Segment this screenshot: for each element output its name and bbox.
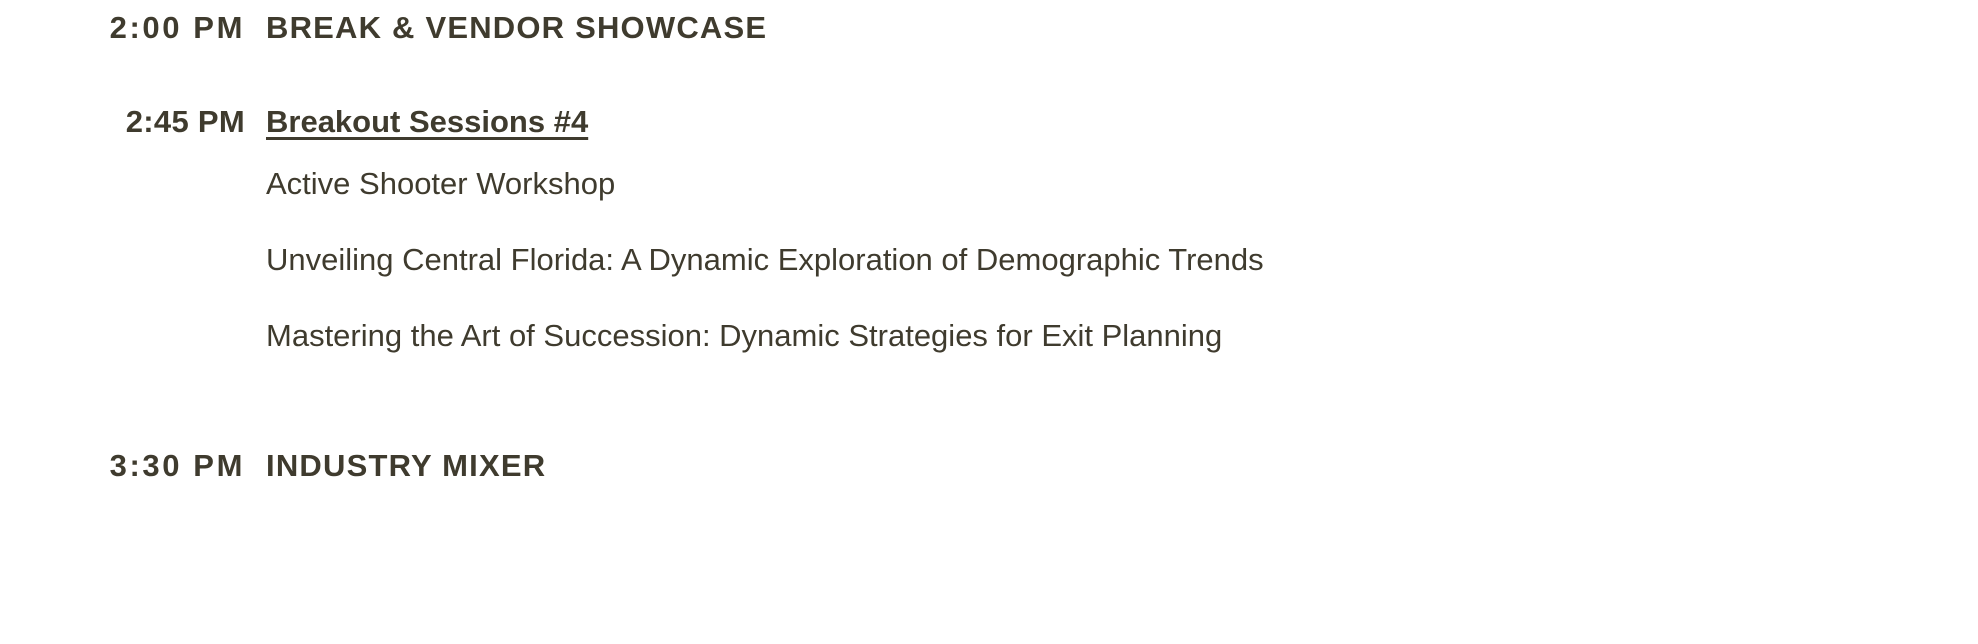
agenda-title-0: BREAK & VENDOR SHOWCASE — [266, 12, 767, 43]
agenda-row-break-vendor-showcase: 2:00 PM BREAK & VENDOR SHOWCASE — [0, 12, 767, 43]
session-item-mastering-art-of-succession: Mastering the Art of Succession: Dynamic… — [266, 314, 1264, 358]
agenda-time-0: 2:00 PM — [0, 12, 245, 43]
agenda-content-0: BREAK & VENDOR SHOWCASE — [266, 12, 767, 43]
session-item-unveiling-central-florida: Unveiling Central Florida: A Dynamic Exp… — [266, 238, 1264, 282]
agenda-time-2: 3:30 PM — [0, 450, 245, 481]
agenda-row-industry-mixer: 3:30 PM INDUSTRY MIXER — [0, 450, 546, 481]
agenda-time-1: 2:45 PM — [0, 106, 245, 137]
agenda-row-breakout-sessions-4: 2:45 PM Breakout Sessions #4 Active Shoo… — [0, 106, 1264, 358]
session-item-active-shooter-workshop: Active Shooter Workshop — [266, 162, 1264, 206]
agenda-schedule: 2:00 PM BREAK & VENDOR SHOWCASE 2:45 PM … — [0, 0, 1978, 644]
agenda-content-1: Breakout Sessions #4 Active Shooter Work… — [266, 106, 1264, 358]
breakout-sessions-4-link[interactable]: Breakout Sessions #4 — [266, 106, 588, 137]
agenda-content-2: INDUSTRY MIXER — [266, 450, 546, 481]
agenda-title-2: INDUSTRY MIXER — [266, 450, 546, 481]
